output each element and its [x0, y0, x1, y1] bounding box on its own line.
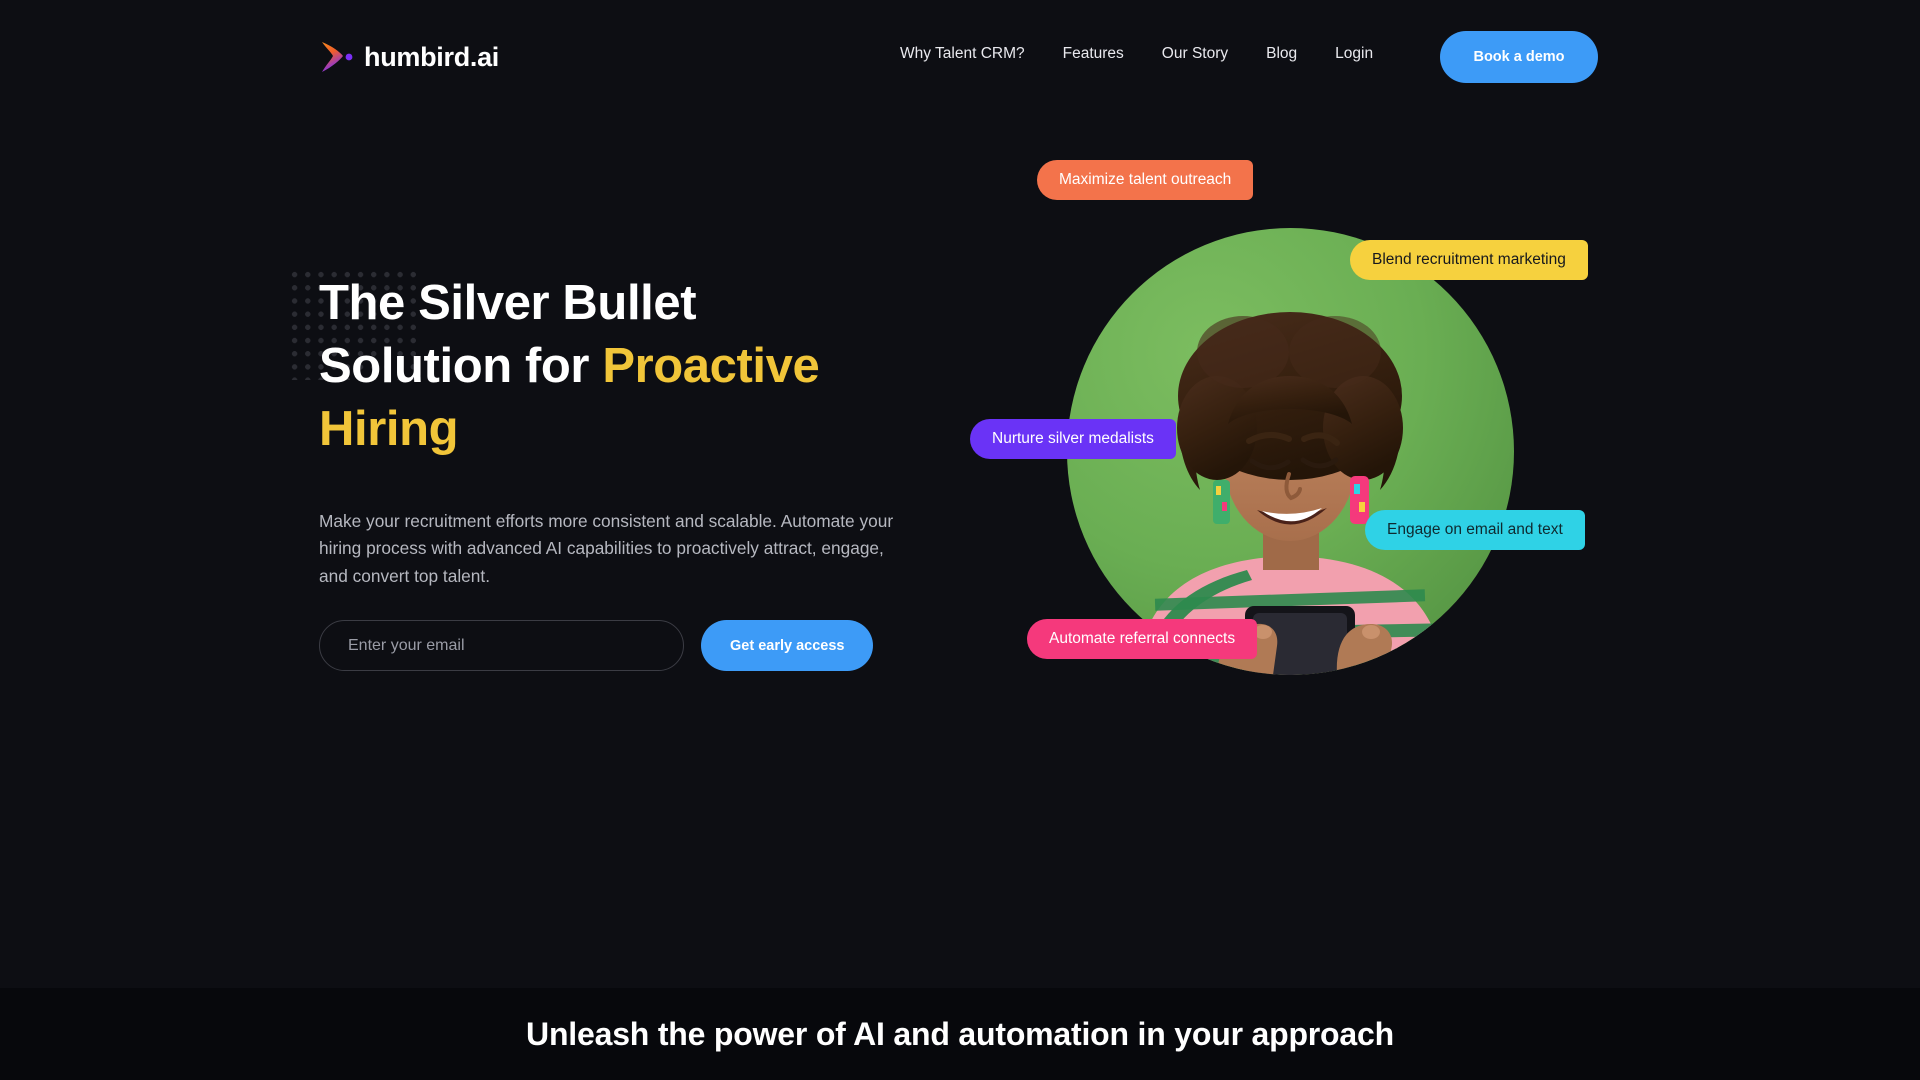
- brand-logo[interactable]: humbird.ai: [318, 40, 499, 74]
- chip-engage-on-email-and-text: Engage on email and text: [1365, 510, 1585, 550]
- chip-blend-recruitment-marketing: Blend recruitment marketing: [1350, 240, 1588, 280]
- nav-item-features[interactable]: Features: [1063, 45, 1124, 63]
- bottom-section-heading: Unleash the power of AI and automation i…: [526, 1016, 1394, 1053]
- nav-item-why-talent-crm[interactable]: Why Talent CRM?: [900, 45, 1025, 63]
- nav-item-login[interactable]: Login: [1335, 45, 1373, 63]
- headline-line-2-plain: Solution for: [319, 339, 602, 393]
- main-nav: Why Talent CRM? Features Our Story Blog …: [900, 45, 1373, 63]
- hero-subcopy: Make your recruitment efforts more consi…: [319, 508, 899, 590]
- gradient-arrow-logo-icon: [318, 40, 354, 74]
- headline-line-3-accent: Hiring: [319, 402, 458, 456]
- headline-line-2-accent: Proactive: [602, 339, 819, 393]
- headline-line-1: The Silver Bullet: [319, 276, 696, 330]
- site-header: humbird.ai Why Talent CRM? Features Our …: [0, 0, 1920, 116]
- chip-nurture-silver-medalists: Nurture silver medalists: [970, 419, 1176, 459]
- hero-text-block: The Silver Bullet Solution for Proactive…: [319, 272, 919, 461]
- nav-item-our-story[interactable]: Our Story: [1162, 45, 1228, 63]
- early-access-form: Get early access: [319, 620, 873, 671]
- get-early-access-button[interactable]: Get early access: [701, 620, 873, 671]
- brand-name: humbird.ai: [364, 42, 499, 73]
- page-title: The Silver Bullet Solution for Proactive…: [319, 272, 919, 461]
- nav-item-blog[interactable]: Blog: [1266, 45, 1297, 63]
- chip-automate-referral-connects: Automate referral connects: [1027, 619, 1257, 659]
- chip-maximize-talent-outreach: Maximize talent outreach: [1037, 160, 1253, 200]
- book-a-demo-button[interactable]: Book a demo: [1440, 31, 1598, 83]
- email-input[interactable]: [319, 620, 684, 671]
- hero-visual: Maximize talent outreach Blend recruitme…: [1020, 160, 1640, 720]
- bottom-section: Unleash the power of AI and automation i…: [0, 988, 1920, 1080]
